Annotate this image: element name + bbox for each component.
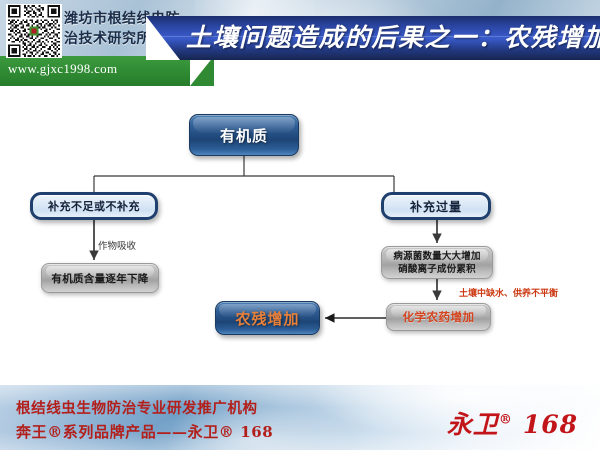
node-pathogen-increase[interactable]: 病源菌数量大大增加 硝酸离子成份累积 [381, 246, 493, 279]
node-label: 病源菌数量大大增加 硝酸离子成份累积 [393, 250, 480, 276]
slide-footer: 根结线虫生物防治专业研发推广机构 奔王®系列品牌产品——永卫® 168 永卫®1… [0, 385, 600, 450]
node-label: 有机质 [220, 125, 268, 146]
edge-label-crop-absorption: 作物吸收 [98, 238, 136, 252]
url-green-bar-tip [190, 56, 214, 86]
node-label: 补充不足或不补充 [48, 198, 140, 214]
brand-name-text: 永卫 [447, 410, 499, 439]
diagram-canvas: 有机质 补充不足或不补充 补充过量 有机质含量逐年下降 病源菌数量大大增加 硝酸… [0, 88, 600, 363]
qr-code-svg [7, 5, 61, 57]
node-label: 有机质含量逐年下降 [51, 271, 148, 286]
node-pesticide-residue-increase[interactable]: 农残增加 [215, 301, 320, 335]
registered-mark-icon: ® [499, 413, 513, 428]
node-label: 化学农药增加 [403, 309, 475, 325]
node-insufficient-supply[interactable]: 补充不足或不补充 [30, 192, 158, 220]
brand-number: 168 [523, 410, 578, 439]
footer-tagline-secondary: 奔王®系列品牌产品——永卫® 168 [16, 421, 273, 442]
node-organic-matter-decline[interactable]: 有机质含量逐年下降 [41, 263, 159, 293]
footer-tagline-primary: 根结线虫生物防治专业研发推广机构 [16, 397, 258, 418]
page-title: 土壤问题造成的后果之一：农残增加 [186, 22, 600, 54]
node-chemical-pesticide-increase[interactable]: 化学农药增加 [386, 303, 491, 331]
brand-logo-yongwei: 永卫®168 [447, 405, 578, 441]
node-label: 农残增加 [235, 308, 299, 329]
title-banner: 土壤问题造成的后果之一：农残增加 [146, 16, 600, 60]
annotation-soil-water-imbalance: 土壤中缺水、供养不平衡 [459, 286, 558, 299]
slide-canvas: 潍坊市根结线虫防治技术研究所 www.gjxc1998.com 土壤问题造成的后… [0, 0, 600, 450]
node-excess-supply[interactable]: 补充过量 [381, 192, 491, 220]
node-label: 补充过量 [410, 198, 462, 215]
qr-code-icon [6, 4, 62, 58]
website-url[interactable]: www.gjxc1998.com [8, 61, 117, 77]
node-organic-matter[interactable]: 有机质 [189, 114, 299, 156]
